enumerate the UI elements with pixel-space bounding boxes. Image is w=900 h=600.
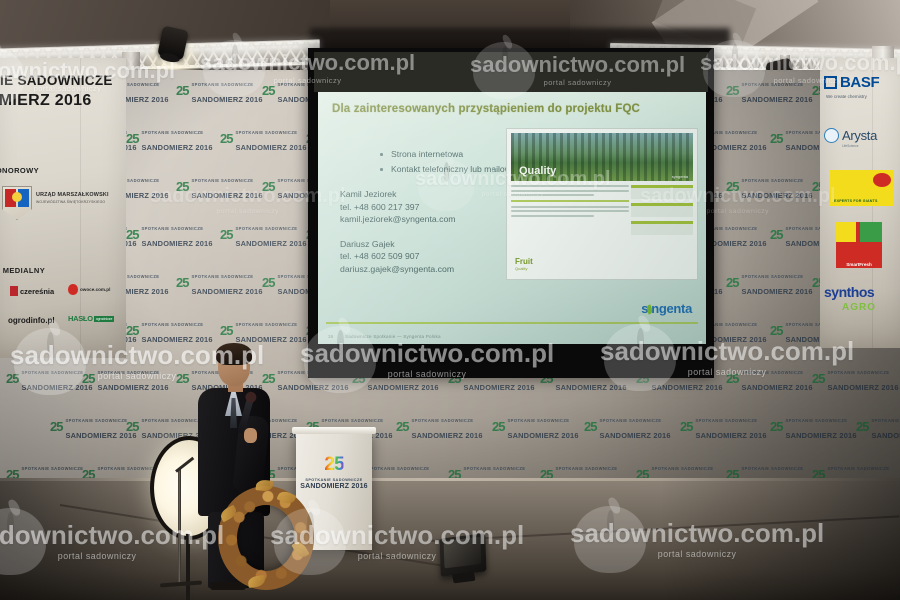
website-side-box (631, 221, 693, 235)
wreath-texture (218, 486, 314, 590)
decorative-wreath (218, 486, 314, 590)
sponsor-banner-right: BASF We create chemistry Arysta LifeScie… (820, 58, 900, 348)
slide-syngenta-logo: sngenta (641, 301, 692, 316)
leaf-icon (646, 304, 654, 314)
contact-phone: tel. +48 602 509 907 (340, 250, 510, 263)
photo-canvas: 25SPOTKANIE SADOWNICZESANDOMIERZ 201625S… (0, 0, 900, 600)
wojewodztwo-coat-of-arms-icon (2, 186, 32, 220)
website-side-column (631, 185, 693, 239)
patronat-honorowy-label: HONOROWY (0, 166, 39, 175)
website-main-column (511, 185, 629, 219)
slide-website-screenshot: Quality syngenta Fruit Qu (506, 128, 698, 280)
projection-screen-letterbox (314, 52, 708, 92)
sponsor-logo-basf: BASF (824, 74, 879, 91)
sponsor-arysta-tagline: LifeScience (842, 144, 858, 148)
patron-logo-line2: WOJEWÓDZTWA ŚWIĘTOKRZYSKIEGO (36, 200, 105, 204)
website-hero-banner: Quality syngenta (511, 133, 693, 181)
sponsor-basf-tagline: We create chemistry (826, 94, 867, 99)
slide-footer-note: Sadownicze Spotkanie — Syngenta Polska (345, 334, 441, 339)
patronat-medialny-label: AT MEDIALNY (0, 266, 45, 275)
contact-entry: Dariusz Gajek tel. +48 602 509 907 dariu… (340, 238, 510, 276)
speaker-hand (244, 428, 257, 443)
media-partner-haslo: HASŁO ogrodnicze (68, 314, 114, 323)
presentation-slide: Dla zainteresowanych przystąpieniem do p… (318, 92, 706, 344)
slide-footer-rule (326, 322, 698, 324)
fruit-quality-logo: Fruit Quality (515, 257, 533, 271)
contact-email: dariusz.gajek@syngenta.com (340, 263, 510, 276)
lectern-top (292, 427, 376, 434)
lectern-logo-25: 25 (324, 454, 343, 476)
slide-contact-block: Kamil Jeziorek tel. +48 600 217 397 kami… (340, 188, 510, 288)
microphone-stand (178, 468, 181, 586)
media-partner-czeresnia: czereśnia (10, 286, 54, 296)
sponsor-synthos-agro: AGRO (842, 302, 876, 313)
slide-page-number: 36 (328, 334, 334, 339)
website-body: Fruit Quality (511, 185, 693, 275)
stage-confidence-monitor (440, 533, 487, 577)
website-accent-rule (511, 200, 629, 202)
monitor-screen (444, 537, 482, 569)
lectern-line1: SPOTKANIE SADOWNICZE (296, 478, 372, 482)
sponsor-logo-arysta: Arysta (824, 128, 877, 143)
softbox-stand (186, 534, 190, 600)
speaker-hair (216, 343, 252, 365)
slide-bullet-list: Strona internetowa Kontakt telefoniczny … (340, 149, 530, 179)
media-partner-owoce: owoce.com.pl (68, 284, 110, 295)
banner-heading-line2: OMIERZ 2016 (0, 92, 92, 109)
contact-email: kamil.jeziorek@syngenta.com (340, 213, 510, 226)
media-partner-ogrodinfo: ogrodinfo.pl (8, 316, 55, 325)
floor-shadow-right (660, 478, 900, 600)
contact-entry: Kamil Jeziorek tel. +48 600 217 397 kami… (340, 188, 510, 226)
patron-logo-line1: URZĄD MARSZAŁKOWSKI (36, 192, 109, 198)
sponsor-logo-sumi-agro: EXPERTS FOR GIANTS (830, 170, 894, 206)
banner-heading-line1: NIE SADOWNICZE (0, 74, 113, 89)
sponsor-logo-smartfresh: SmartFresh (836, 222, 882, 268)
website-side-box (631, 185, 693, 199)
contact-name: Dariusz Gajek (340, 238, 510, 251)
slide-title: Dla zainteresowanych przystąpieniem do p… (332, 103, 682, 115)
website-quality-logo: Quality (519, 165, 556, 177)
website-side-box (631, 203, 693, 217)
slide-footer: 36 Sadownicze Spotkanie — Syngenta Polsk… (328, 334, 441, 339)
contact-phone: tel. +48 600 217 397 (340, 201, 510, 214)
sponsor-logo-synthos: synthos (824, 284, 874, 300)
sponsor-banner-left: NIE SADOWNICZE OMIERZ 2016 HONOROWY URZĄ… (0, 58, 126, 358)
contact-name: Kamil Jeziorek (340, 188, 510, 201)
website-syngenta-mark: syngenta (672, 174, 688, 179)
